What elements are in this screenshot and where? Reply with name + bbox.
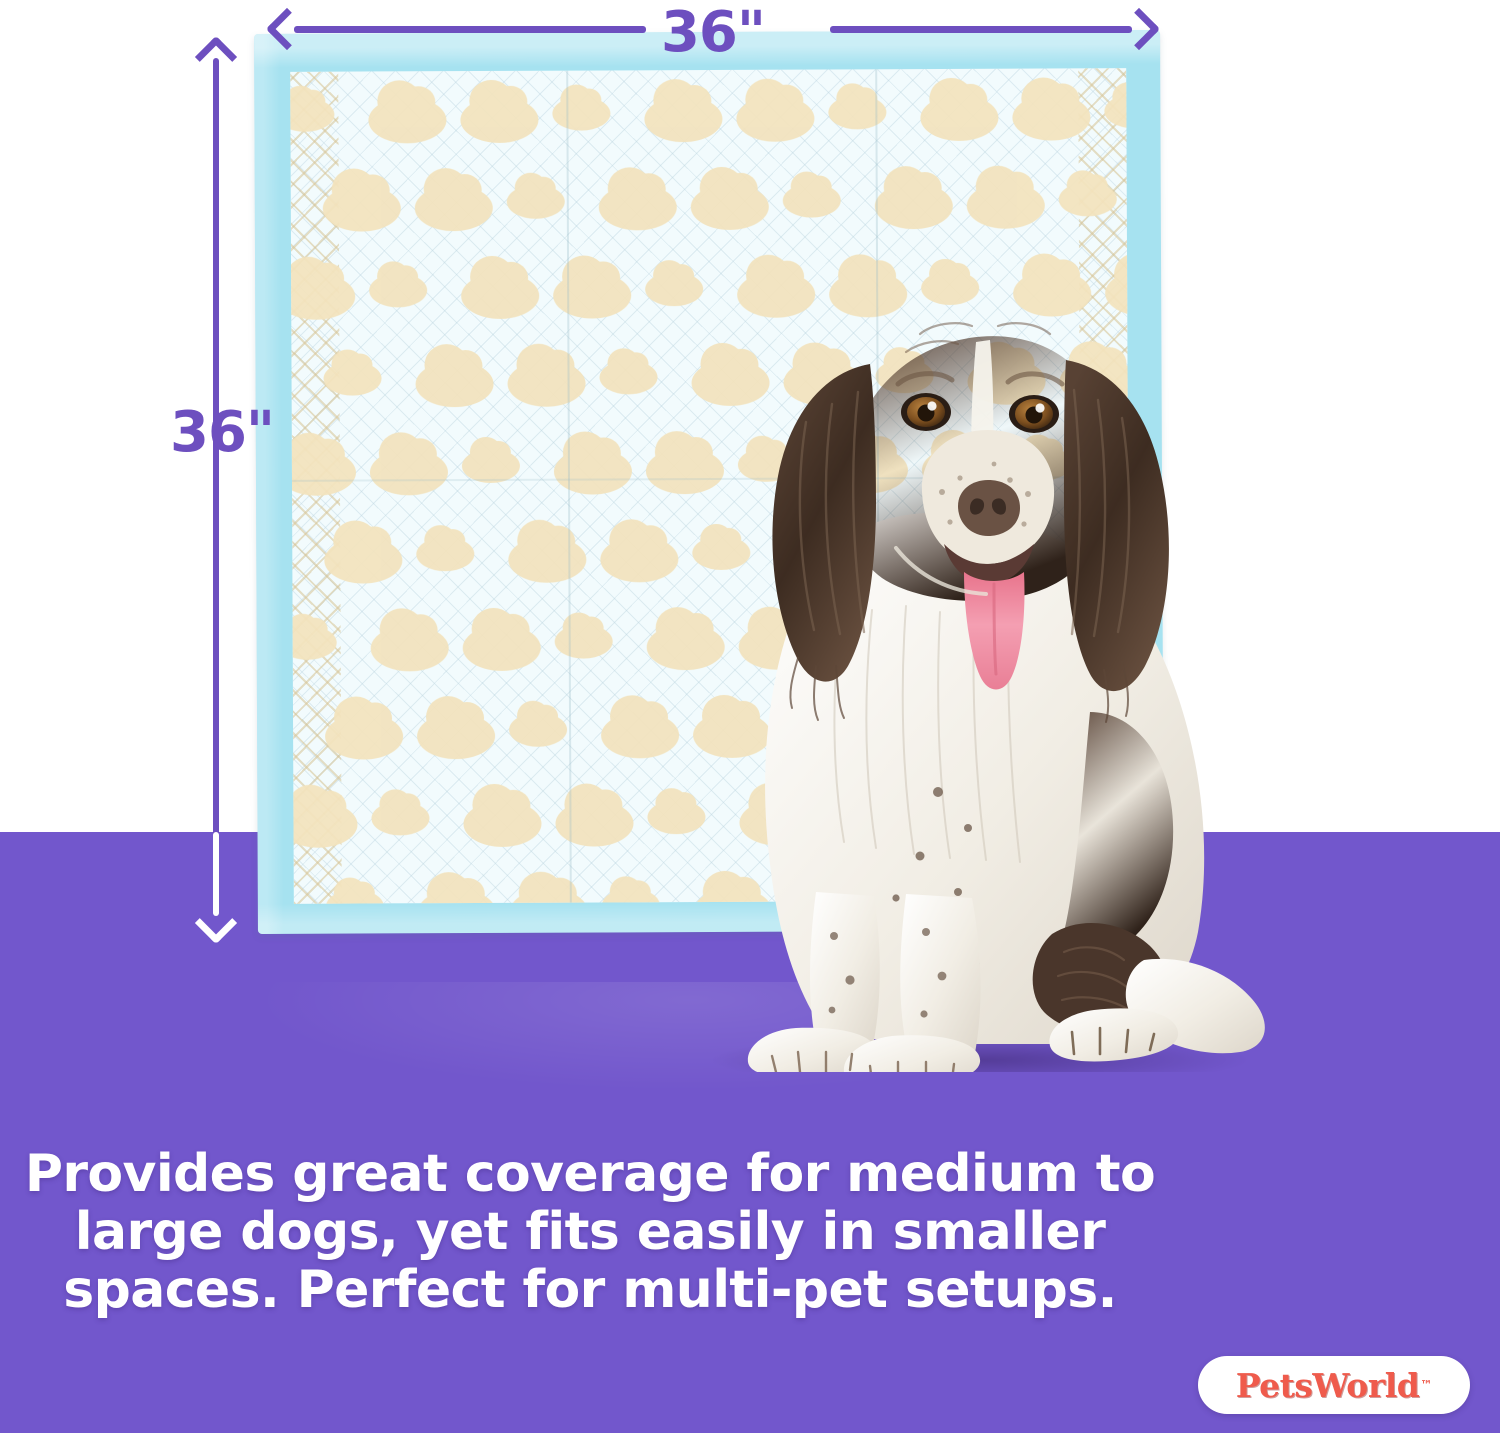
cloud-motif — [507, 185, 565, 219]
cloud-motif — [370, 449, 448, 495]
cloud-motif — [415, 361, 493, 407]
cloud-motif — [368, 97, 446, 143]
caption-text: Provides great coverage for medium to la… — [0, 1145, 1180, 1320]
cloud-motif — [326, 889, 384, 903]
caption-line-1: Provides great coverage for medium to — [0, 1145, 1180, 1203]
cloud-motif — [508, 537, 586, 583]
cloud-motif — [460, 97, 538, 143]
width-dimension-annotation: 36" — [268, 8, 1158, 48]
dimension-line-right — [830, 26, 1132, 33]
dog-photo — [620, 192, 1300, 1072]
arrow-right-icon — [1118, 8, 1160, 50]
cloud-motif — [371, 801, 429, 835]
cloud-motif — [644, 96, 722, 142]
trademark-symbol: ™ — [1420, 1378, 1432, 1392]
cloud-motif — [369, 273, 427, 307]
caption-line-3: spaces. Perfect for multi-pet setups. — [0, 1261, 1180, 1319]
cloud-motif — [290, 626, 337, 660]
cloud-motif — [552, 96, 610, 130]
cloud-motif — [1104, 94, 1130, 128]
cloud-motif — [416, 537, 474, 571]
cloud-motif — [510, 889, 588, 904]
cloud-motif — [463, 625, 541, 671]
cloud-motif — [290, 98, 334, 132]
cloud-motif — [290, 450, 356, 496]
height-dimension-annotation — [196, 36, 236, 944]
cloud-motif — [415, 185, 493, 231]
dimension-line-left — [294, 26, 646, 33]
cloud-motif — [507, 361, 585, 407]
cloud-motif — [463, 801, 541, 847]
height-dimension-label: 36" — [170, 400, 274, 465]
cloud-motif — [323, 185, 401, 231]
cloud-motif — [418, 889, 496, 904]
cloud-motif — [290, 802, 357, 848]
cloud-motif — [323, 361, 381, 395]
cloud-motif — [325, 713, 403, 759]
cloud-motif — [1012, 94, 1090, 140]
cloud-motif — [828, 95, 886, 129]
cloud-motif — [324, 537, 402, 583]
cloud-motif — [555, 624, 613, 658]
cloud-motif — [417, 713, 495, 759]
brand-logo: PetsWorld™ — [1198, 1356, 1470, 1414]
cloud-motif — [736, 96, 814, 142]
product-marketing-image: 36" 36" — [0, 0, 1500, 1433]
cloud-motif — [371, 625, 449, 671]
cloud-motif — [461, 273, 539, 319]
brand-name: PetsWorld — [1236, 1369, 1420, 1402]
caption-line-2: large dogs, yet fits easily in smaller — [0, 1203, 1180, 1261]
cloud-motif — [920, 95, 998, 141]
arrow-down-icon — [195, 902, 237, 944]
cloud-motif — [290, 274, 355, 320]
cloud-motif — [509, 713, 567, 747]
width-dimension-label: 36" — [661, 0, 765, 65]
